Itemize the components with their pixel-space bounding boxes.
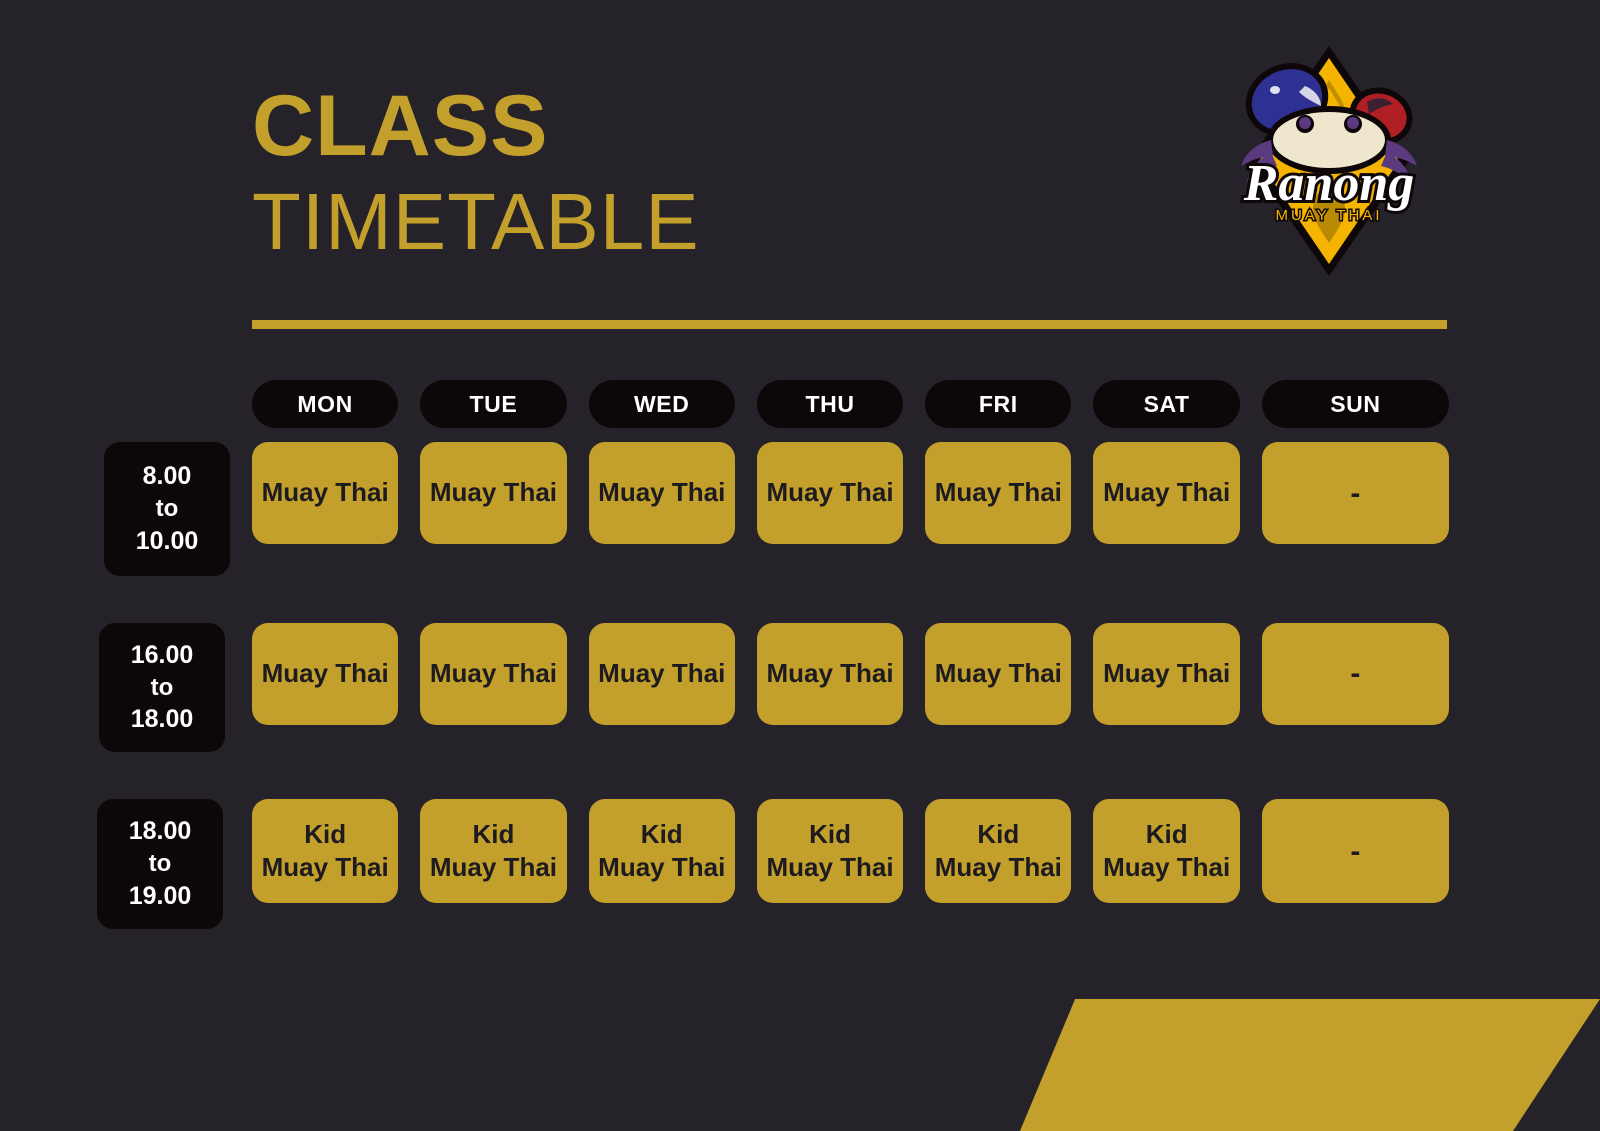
- time-slot-2-separator: to: [99, 672, 225, 704]
- class-label-line2: Muay Thai: [935, 851, 1062, 885]
- empty-slot-dash: -: [1350, 832, 1360, 871]
- class-cell-sun-2[interactable]: -: [1262, 623, 1449, 725]
- class-timetable: MON TUE WED THU FRI SAT SUN 8.00 to 10.0…: [104, 380, 1449, 929]
- class-cell-mon-3[interactable]: Kid Muay Thai: [252, 799, 398, 903]
- class-label: Kid: [809, 819, 851, 849]
- class-cell-sat-3[interactable]: Kid Muay Thai: [1093, 799, 1239, 903]
- day-header-mon[interactable]: MON: [252, 380, 398, 428]
- ranong-muay-thai-logo: Ranong MUAY THAI: [1213, 28, 1445, 293]
- class-label: Muay Thai: [430, 658, 557, 688]
- timetable-row-3: 18.00 to 19.00 Kid Muay Thai Kid Muay Th…: [97, 799, 1449, 929]
- class-cell-mon-2[interactable]: Muay Thai: [252, 623, 398, 725]
- empty-slot-dash: -: [1350, 654, 1360, 693]
- class-label: Kid: [304, 819, 346, 849]
- time-slot-3: 18.00 to 19.00: [97, 799, 223, 929]
- class-label: Kid: [977, 819, 1019, 849]
- class-cell-sun-3[interactable]: -: [1262, 799, 1449, 903]
- class-label: Muay Thai: [935, 658, 1062, 688]
- class-cell-fri-1[interactable]: Muay Thai: [925, 442, 1071, 544]
- time-slot-3-end: 19.00: [97, 880, 223, 913]
- class-cell-mon-1[interactable]: Muay Thai: [252, 442, 398, 544]
- empty-slot-dash: -: [1350, 474, 1360, 513]
- day-header-sun[interactable]: SUN: [1262, 380, 1449, 428]
- class-cell-sun-1[interactable]: -: [1262, 442, 1449, 544]
- logo-wordmark: Ranong: [1243, 155, 1415, 212]
- class-cell-thu-1[interactable]: Muay Thai: [757, 442, 903, 544]
- class-label: Muay Thai: [430, 477, 557, 507]
- class-label: Muay Thai: [935, 477, 1062, 507]
- class-cell-sat-1[interactable]: Muay Thai: [1093, 442, 1239, 544]
- class-cell-wed-3[interactable]: Kid Muay Thai: [589, 799, 735, 903]
- class-cell-wed-2[interactable]: Muay Thai: [589, 623, 735, 725]
- class-cell-thu-3[interactable]: Kid Muay Thai: [757, 799, 903, 903]
- class-label-line2: Muay Thai: [430, 851, 557, 885]
- bottom-decorative-parallelogram: [1020, 999, 1600, 1131]
- class-label: Muay Thai: [262, 658, 389, 688]
- class-label: Muay Thai: [766, 477, 893, 507]
- class-label: Muay Thai: [1103, 477, 1230, 507]
- class-cell-tue-1[interactable]: Muay Thai: [420, 442, 566, 544]
- class-label: Muay Thai: [1103, 658, 1230, 688]
- logo-subtitle: MUAY THAI: [1275, 207, 1382, 224]
- class-label: Kid: [1146, 819, 1188, 849]
- class-cell-sat-2[interactable]: Muay Thai: [1093, 623, 1239, 725]
- class-label: Muay Thai: [598, 658, 725, 688]
- day-header-sat[interactable]: SAT: [1093, 380, 1239, 428]
- class-label: Kid: [473, 819, 515, 849]
- class-cell-fri-2[interactable]: Muay Thai: [925, 623, 1071, 725]
- time-slot-1-start: 8.00: [104, 460, 230, 493]
- day-header-thu[interactable]: THU: [757, 380, 903, 428]
- class-label: Muay Thai: [598, 477, 725, 507]
- class-cell-fri-3[interactable]: Kid Muay Thai: [925, 799, 1071, 903]
- class-label: Kid: [641, 819, 683, 849]
- class-cell-tue-3[interactable]: Kid Muay Thai: [420, 799, 566, 903]
- time-slot-2-end: 18.00: [99, 703, 225, 736]
- time-slot-1: 8.00 to 10.00: [104, 442, 230, 576]
- class-label-line2: Muay Thai: [598, 851, 725, 885]
- timetable-row-2: 16.00 to 18.00 Muay Thai Muay Thai Muay …: [99, 623, 1449, 753]
- timetable-row-1: 8.00 to 10.00 Muay Thai Muay Thai Muay T…: [104, 442, 1449, 576]
- time-slot-3-separator: to: [97, 848, 223, 880]
- time-slot-2: 16.00 to 18.00: [99, 623, 225, 753]
- class-cell-wed-1[interactable]: Muay Thai: [589, 442, 735, 544]
- class-cell-tue-2[interactable]: Muay Thai: [420, 623, 566, 725]
- title-divider-rule: [252, 320, 1447, 329]
- class-label-line2: Muay Thai: [766, 851, 893, 885]
- class-label: Muay Thai: [766, 658, 893, 688]
- time-slot-3-start: 18.00: [97, 815, 223, 848]
- class-cell-thu-2[interactable]: Muay Thai: [757, 623, 903, 725]
- time-slot-2-start: 16.00: [99, 639, 225, 672]
- class-label-line2: Muay Thai: [1103, 851, 1230, 885]
- day-header-wed[interactable]: WED: [589, 380, 735, 428]
- class-label: Muay Thai: [262, 477, 389, 507]
- timetable-header-row: MON TUE WED THU FRI SAT SUN: [104, 380, 1449, 428]
- day-header-tue[interactable]: TUE: [420, 380, 566, 428]
- time-slot-1-end: 10.00: [104, 525, 230, 558]
- day-header-fri[interactable]: FRI: [925, 380, 1071, 428]
- time-slot-1-separator: to: [104, 493, 230, 525]
- class-label-line2: Muay Thai: [262, 851, 389, 885]
